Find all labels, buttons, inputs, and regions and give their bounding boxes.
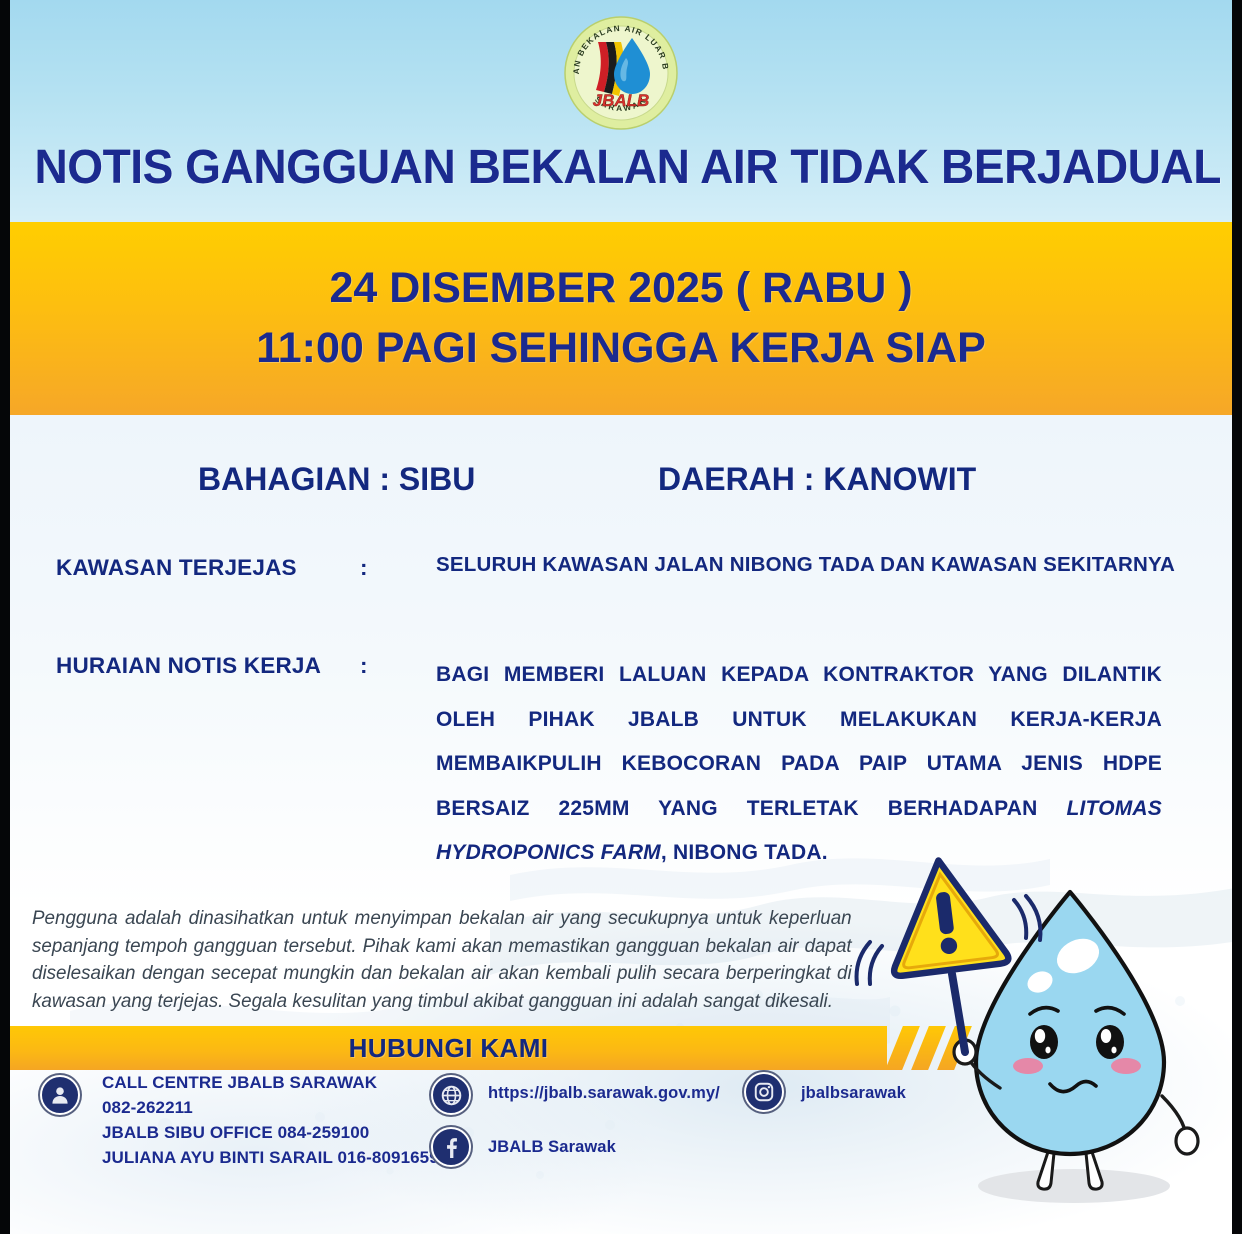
- instagram-icon[interactable]: [744, 1072, 784, 1112]
- page-left-edge: [0, 0, 10, 1234]
- huraian-notis-kerja-colon: :: [360, 653, 368, 679]
- notice-time: 11:00 PAGI SEHINGGA KERJA SIAP: [256, 319, 986, 378]
- globe-icon[interactable]: [431, 1075, 471, 1115]
- jbalb-logo: JABATAN BEKALAN AIR LUAR BANDAR SARAWAK …: [562, 14, 680, 132]
- hubungi-kami-bar: HUBUNGI KAMI: [10, 1026, 887, 1070]
- poster-header: JABATAN BEKALAN AIR LUAR BANDAR SARAWAK …: [10, 0, 1232, 222]
- page-right-edge: [1232, 0, 1242, 1234]
- date-time-banner: 24 DISEMBER 2025 ( RABU ) 11:00 PAGI SEH…: [10, 222, 1232, 415]
- svg-text:JBALB: JBALB: [593, 91, 650, 110]
- call-centre-text[interactable]: CALL CENTRE JBALB SARAWAK 082-262211 JBA…: [102, 1071, 439, 1171]
- kawasan-terjejas-colon: :: [360, 555, 368, 581]
- instagram-glyph: [753, 1081, 775, 1103]
- notice-date: 24 DISEMBER 2025 ( RABU ): [329, 259, 912, 318]
- disclaimer-text: Pengguna adalah dinasihatkan untuk menyi…: [32, 905, 852, 1015]
- person-glyph: [49, 1084, 71, 1106]
- daerah-label: DAERAH : KANOWIT: [658, 461, 976, 498]
- page-title: NOTIS GANGGUAN BEKALAN AIR TIDAK BERJADU…: [34, 140, 1207, 195]
- hubungi-kami-label: HUBUNGI KAMI: [349, 1033, 549, 1064]
- water-droplet-mascot-icon: [852, 834, 1224, 1226]
- water-droplet-mascot: [852, 834, 1224, 1226]
- globe-glyph: [440, 1084, 463, 1107]
- jbalb-logo-icon: JABATAN BEKALAN AIR LUAR BANDAR SARAWAK …: [562, 14, 680, 132]
- bahagian-label: BAHAGIAN : SIBU: [198, 461, 475, 498]
- huraian-text-part2: , NIBONG TADA.: [661, 841, 828, 864]
- facebook-glyph: [440, 1136, 462, 1158]
- facebook-handle-text[interactable]: JBALB Sarawak: [488, 1135, 616, 1159]
- website-url-text[interactable]: https://jbalb.sarawak.gov.my/: [488, 1081, 720, 1105]
- water-disruption-notice-poster: JABATAN BEKALAN AIR LUAR BANDAR SARAWAK …: [0, 0, 1242, 1234]
- huraian-notis-kerja-label: HURAIAN NOTIS KERJA: [56, 653, 321, 679]
- person-icon[interactable]: [40, 1075, 80, 1115]
- kawasan-terjejas-label: KAWASAN TERJEJAS: [56, 555, 297, 581]
- poster-body: BAHAGIAN : SIBU DAERAH : KANOWIT KAWASAN…: [10, 415, 1232, 1234]
- facebook-icon[interactable]: [431, 1127, 471, 1167]
- huraian-text-part1: BAGI MEMBERI LALUAN KEPADA KONTRAKTOR YA…: [436, 663, 1162, 820]
- kawasan-terjejas-value: SELURUH KAWASAN JALAN NIBONG TADA DAN KA…: [436, 555, 1162, 576]
